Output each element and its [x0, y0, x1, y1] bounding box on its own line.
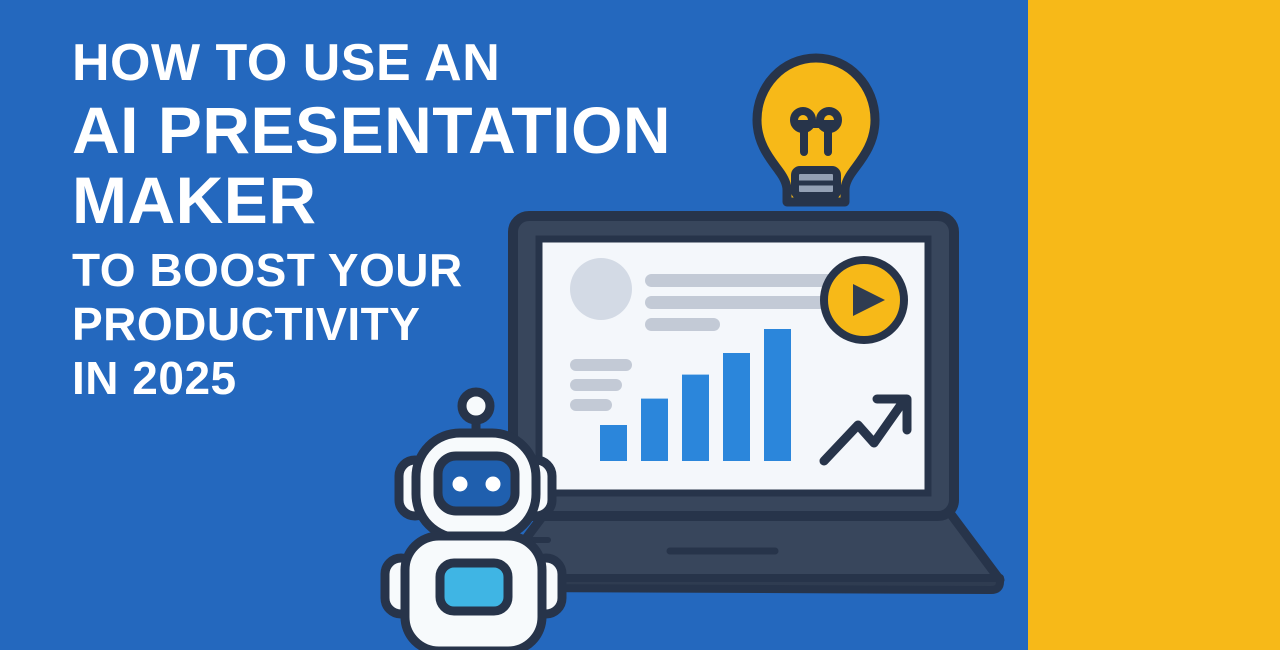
laptop-device	[495, 216, 1000, 590]
placeholder-line-3	[645, 318, 720, 331]
robot-antenna-bulb	[462, 392, 490, 420]
placeholder-line-4	[570, 359, 632, 371]
placeholder-line-6	[570, 399, 612, 411]
chart-bar-1	[600, 425, 627, 461]
avatar-placeholder	[570, 258, 632, 320]
placeholder-line-1	[645, 274, 843, 287]
robot-chest-panel	[440, 563, 508, 611]
placeholder-line-2	[645, 296, 843, 309]
poster-canvas: HOW TO USE AN AI PRESENTATION MAKER TO B…	[0, 0, 1280, 650]
chart-bar-3	[682, 375, 709, 461]
robot-eye-left	[453, 477, 468, 492]
laptop-front-lip	[496, 578, 1000, 590]
chart-bar-2	[641, 399, 668, 461]
chart-bar-5	[764, 329, 791, 461]
video-play-button[interactable]	[824, 260, 904, 340]
idea-lightbulb-icon	[757, 58, 875, 202]
robot-face-screen	[438, 456, 515, 511]
placeholder-line-5	[570, 379, 622, 391]
robot-eye-right	[486, 477, 501, 492]
illustration-group	[0, 0, 1280, 650]
laptop-keyboard-deck	[495, 513, 1000, 580]
chart-bar-4	[723, 353, 750, 461]
